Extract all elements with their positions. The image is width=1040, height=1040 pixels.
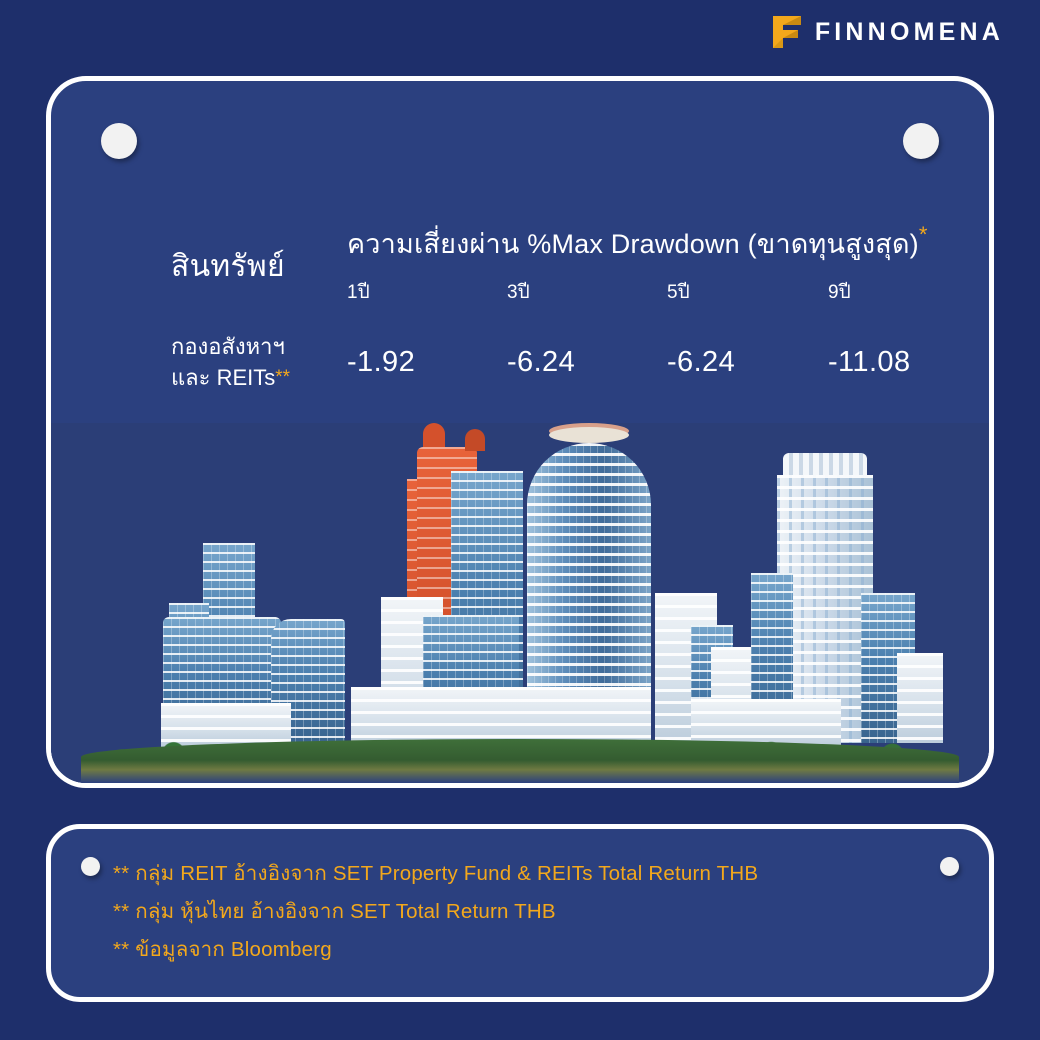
row-label-reits: กองอสังหาฯ และ REITs**	[171, 315, 347, 409]
brand-name: FINNOMENA	[815, 14, 1004, 50]
building-right-far	[897, 653, 943, 743]
row-label-reits-line2: และ REITs	[171, 365, 275, 390]
decorative-dot-note-left	[81, 857, 100, 876]
city-skyline-photo	[51, 423, 989, 783]
brand-logo: FINNOMENA	[771, 14, 1004, 50]
cell-reits-9y: -11.08	[828, 315, 989, 409]
building-right-crown	[783, 453, 867, 475]
decorative-dot-top-right	[903, 123, 939, 159]
header-group-star: *	[919, 222, 928, 247]
notes-card: ** กลุ่ม REIT อ้างอิงจาก SET Property Fu…	[46, 824, 994, 1002]
note-item-2: ** กลุ่ม หุ้นไทย อ้างอิงจาก SET Total Re…	[113, 893, 989, 931]
cell-reits-3y: -6.24	[507, 315, 667, 409]
row-label-reits-star: **	[275, 367, 290, 388]
row-label-reits-line1: กองอสังหาฯ	[171, 334, 285, 359]
header-year-9: 9ปี	[828, 269, 989, 315]
table-row: กองอสังหาฯ และ REITs** -1.92 -6.24 -6.24…	[171, 315, 989, 409]
note-item-1: ** กลุ่ม REIT อ้างอิงจาก SET Property Fu…	[113, 855, 989, 893]
building-orange-turret-left	[423, 423, 445, 447]
cell-reits-5y: -6.24	[667, 315, 828, 409]
infographic-page: FINNOMENA สินทรัพย์ ความเสี่ย	[0, 0, 1040, 1040]
note-item-3: ** ข้อมูลจาก Bloomberg	[113, 931, 989, 969]
header-year-5: 5ปี	[667, 269, 828, 315]
header-group-text: ความเสี่ยงผ่าน %Max Drawdown (ขาดทุนสูงส…	[347, 229, 919, 259]
header-year-3: 3ปี	[507, 269, 667, 315]
header-group: ความเสี่ยงผ่าน %Max Drawdown (ขาดทุนสูงส…	[347, 217, 989, 269]
building-orange-turret-right	[465, 429, 485, 451]
shoreline-ground	[81, 739, 959, 783]
cell-reits-1y: -1.92	[347, 315, 507, 409]
main-card: สินทรัพย์ ความเสี่ยงผ่าน %Max Drawdown (…	[46, 76, 994, 788]
header-year-1: 1ปี	[347, 269, 507, 315]
finnomena-f-logo-icon	[771, 14, 803, 50]
decorative-dot-top-left	[101, 123, 137, 159]
table-header-row-group: สินทรัพย์ ความเสี่ยงผ่าน %Max Drawdown (…	[171, 217, 989, 269]
building-hero-crown	[549, 427, 629, 443]
header-asset: สินทรัพย์	[171, 217, 347, 315]
decorative-dot-note-right	[940, 857, 959, 876]
